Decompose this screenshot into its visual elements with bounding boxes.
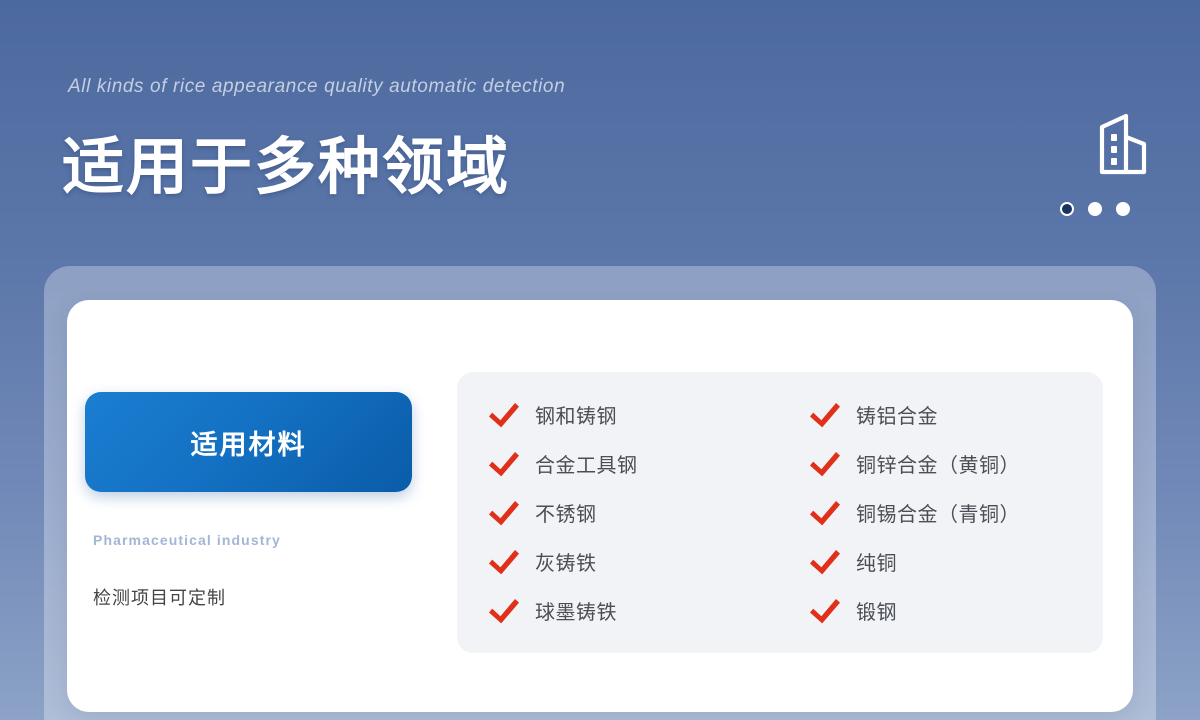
list-item-label: 钢和铸钢 — [535, 400, 617, 429]
list-item-label: 铜锌合金（黄铜） — [856, 449, 1020, 478]
list-item-label: 铜锡合金（青铜） — [856, 498, 1020, 527]
checklist-column-right: 铸铝合金 铜锌合金（黄铜） 铜锡合金（青铜） — [782, 390, 1103, 635]
building-icon — [1088, 110, 1156, 178]
list-item[interactable]: 球墨铸铁 — [487, 586, 782, 635]
content-card: 适用材料 Pharmaceutical industry 检测项目可定制 钢和铸… — [67, 300, 1133, 712]
check-icon — [487, 449, 521, 479]
list-item[interactable]: 合金工具钢 — [487, 439, 782, 488]
list-item-label: 铸铝合金 — [856, 400, 938, 429]
list-item-label: 球墨铸铁 — [535, 596, 617, 625]
list-item-label: 锻钢 — [856, 596, 897, 625]
list-item-label: 不锈钢 — [535, 498, 597, 527]
hero-subtitle: All kinds of rice appearance quality aut… — [68, 76, 565, 98]
carousel-dot-3[interactable] — [1116, 202, 1130, 216]
custom-items-caption: 检测项目可定制 — [93, 584, 435, 610]
carousel-dot-1[interactable] — [1060, 202, 1074, 216]
list-item[interactable]: 灰铸铁 — [487, 537, 782, 586]
check-icon — [808, 449, 842, 479]
hero-header: All kinds of rice appearance quality aut… — [0, 0, 1200, 266]
check-icon — [487, 498, 521, 528]
list-item[interactable]: 铸铝合金 — [808, 390, 1103, 439]
list-item-label: 灰铸铁 — [535, 547, 597, 576]
list-item-label: 纯铜 — [856, 547, 897, 576]
check-icon — [808, 596, 842, 626]
list-item[interactable]: 不锈钢 — [487, 488, 782, 537]
check-icon — [808, 400, 842, 430]
list-item-label: 合金工具钢 — [535, 449, 638, 478]
checklist-column-left: 钢和铸钢 合金工具钢 不锈钢 — [457, 390, 782, 635]
check-icon — [487, 547, 521, 577]
list-item[interactable]: 铜锡合金（青铜） — [808, 488, 1103, 537]
carousel-dot-2[interactable] — [1088, 202, 1102, 216]
carousel-dots[interactable] — [1060, 202, 1130, 216]
check-icon — [487, 400, 521, 430]
list-item[interactable]: 钢和铸钢 — [487, 390, 782, 439]
check-icon — [487, 596, 521, 626]
page-title: 适用于多种领域 — [62, 116, 510, 206]
list-item[interactable]: 纯铜 — [808, 537, 1103, 586]
materials-checklist-panel: 钢和铸钢 合金工具钢 不锈钢 — [457, 372, 1103, 653]
industry-caption-en: Pharmaceutical industry — [93, 532, 435, 548]
check-icon — [808, 547, 842, 577]
left-column: 适用材料 Pharmaceutical industry 检测项目可定制 — [85, 392, 435, 610]
check-icon — [808, 498, 842, 528]
applicable-materials-button[interactable]: 适用材料 — [85, 392, 412, 492]
list-item[interactable]: 铜锌合金（黄铜） — [808, 439, 1103, 488]
list-item[interactable]: 锻钢 — [808, 586, 1103, 635]
